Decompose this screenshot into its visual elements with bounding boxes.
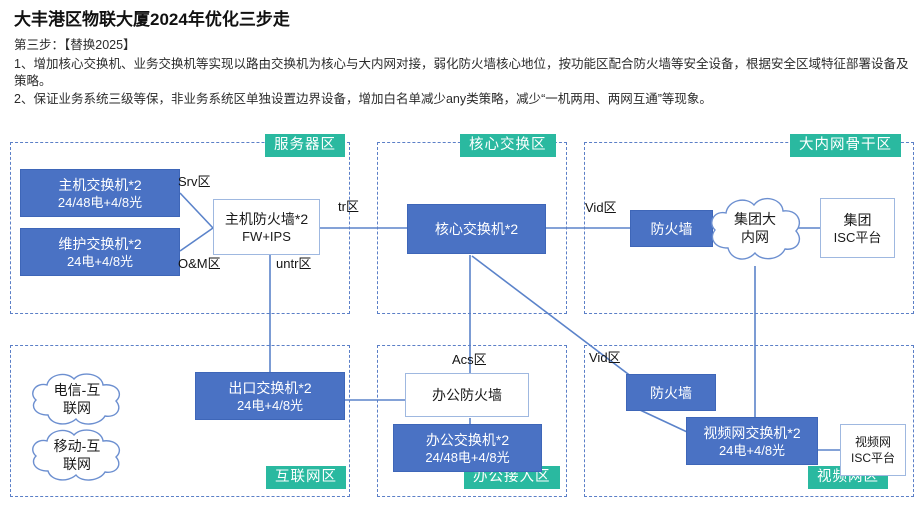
node-host-firewall-line2: FW+IPS — [242, 228, 291, 245]
node-exit-switch-line2: 24电+4/8光 — [237, 397, 303, 414]
node-core-switch-line1: 核心交换机*2 — [435, 220, 518, 238]
step-line: 第三步：【替换2025】 — [14, 37, 910, 55]
node-host-firewall[interactable]: 主机防火墙*2 FW+IPS — [213, 199, 320, 255]
node-video-isc[interactable]: 视频网 ISC平台 — [840, 424, 906, 476]
node-host-switch-line1: 主机交换机*2 — [58, 176, 141, 194]
node-video-switch-line1: 视频网交换机*2 — [703, 424, 800, 442]
cloud-mobile-internet-text: 移动-互 联网 — [22, 424, 132, 486]
cloud-mobile-line1: 移动-互 — [54, 437, 101, 455]
edge-label-untr: untr区 — [276, 256, 311, 272]
cloud-group-intranet-text: 集团大 内网 — [700, 186, 810, 270]
node-om-switch[interactable]: 维护交换机*2 24电+4/8光 — [20, 228, 180, 276]
node-host-switch-line2: 24/48电+4/8光 — [58, 194, 142, 211]
cloud-group-intranet: 集团大 内网 — [700, 186, 810, 270]
node-video-switch[interactable]: 视频网交换机*2 24电+4/8光 — [686, 417, 818, 465]
node-video-switch-line2: 24电+4/8光 — [719, 442, 785, 459]
zone-label-server: 服务器区 — [265, 134, 345, 157]
node-intranet-firewall-line1: 防火墙 — [651, 220, 693, 238]
node-core-switch[interactable]: 核心交换机*2 — [407, 204, 546, 254]
node-exit-switch-line1: 出口交换机*2 — [228, 379, 311, 397]
cloud-telecom-line2: 联网 — [63, 399, 91, 417]
node-office-switch-line1: 办公交换机*2 — [426, 431, 509, 449]
cloud-mobile-internet: 移动-互 联网 — [22, 424, 132, 486]
node-host-switch[interactable]: 主机交换机*2 24/48电+4/8光 — [20, 169, 180, 217]
node-exit-switch[interactable]: 出口交换机*2 24电+4/8光 — [195, 372, 345, 420]
zone-label-core: 核心交换区 — [460, 134, 556, 157]
zone-label-intranet: 大内网骨干区 — [790, 134, 901, 157]
edge-label-acs: Acs区 — [452, 352, 487, 368]
cloud-telecom-internet: 电信-互 联网 — [22, 368, 132, 430]
node-om-switch-line1: 维护交换机*2 — [58, 235, 141, 253]
node-video-isc-line1: 视频网 — [855, 434, 891, 450]
edge-label-srv: Srv区 — [178, 174, 211, 190]
edge-label-vid-bottom: Vid区 — [589, 350, 621, 366]
node-office-switch-line2: 24/48电+4/8光 — [425, 449, 509, 466]
node-office-firewall[interactable]: 办公防火墙 — [405, 373, 529, 417]
bullet-point-1: 1、增加核心交换机、业务交换机等实现以路由交换机为核心与大内网对接，弱化防火墙核… — [14, 56, 910, 91]
header-text-block: 大丰港区物联大厦2024年优化三步走 第三步：【替换2025】 1、增加核心交换… — [14, 8, 910, 108]
zone-label-internet: 互联网区 — [266, 466, 346, 489]
node-office-firewall-line1: 办公防火墙 — [432, 386, 502, 404]
cloud-telecom-internet-text: 电信-互 联网 — [22, 368, 132, 430]
node-office-switch[interactable]: 办公交换机*2 24/48电+4/8光 — [393, 424, 542, 472]
node-host-firewall-line1: 主机防火墙*2 — [225, 210, 308, 228]
cloud-group-intranet-line1: 集团大 — [734, 210, 776, 228]
cloud-telecom-line1: 电信-互 — [54, 381, 101, 399]
node-video-firewall[interactable]: 防火墙 — [626, 374, 716, 411]
edge-label-om: O&M区 — [178, 256, 221, 272]
node-video-firewall-line1: 防火墙 — [650, 384, 692, 402]
page-title: 大丰港区物联大厦2024年优化三步走 — [14, 8, 910, 32]
network-diagram: 服务器区 核心交换区 大内网骨干区 互联网区 办公接入区 视频网区 主机交换机*… — [0, 128, 924, 520]
cloud-group-intranet-line2: 内网 — [741, 228, 769, 246]
node-group-isc-line2: ISC平台 — [834, 229, 882, 246]
edge-label-tr: tr区 — [338, 199, 359, 215]
cloud-mobile-line2: 联网 — [63, 455, 91, 473]
node-group-isc-line1: 集团 — [844, 211, 872, 229]
node-video-isc-line2: ISC平台 — [851, 450, 895, 466]
bullet-point-2: 2、保证业务系统三级等保，非业务系统区单独设置边界设备，增加白名单减少any类策… — [14, 91, 910, 109]
node-om-switch-line2: 24电+4/8光 — [67, 253, 133, 270]
node-group-isc[interactable]: 集团 ISC平台 — [820, 198, 895, 258]
edge-label-vid-top: Vid区 — [585, 200, 617, 216]
